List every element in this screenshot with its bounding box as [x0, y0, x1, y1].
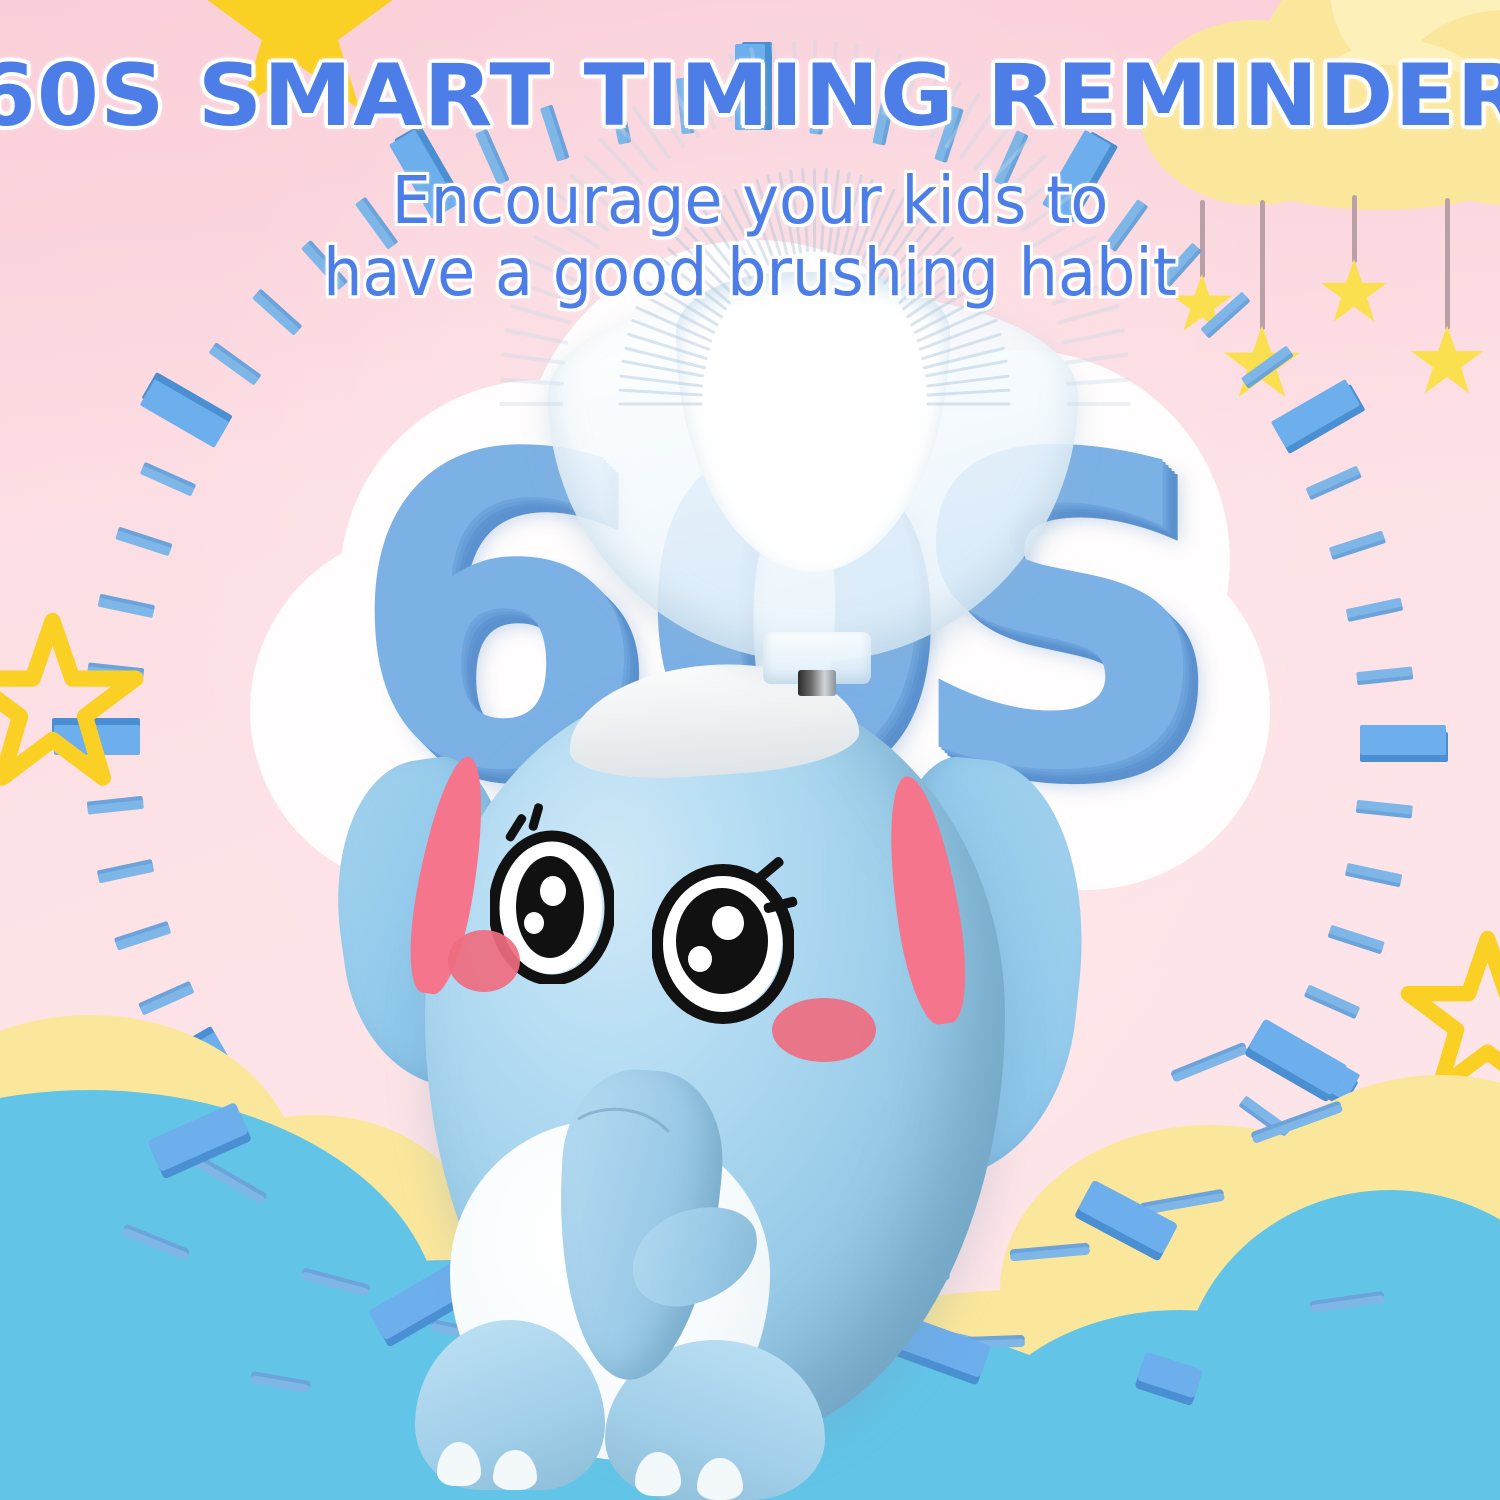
slab-mark — [1248, 1018, 1348, 1095]
bristle — [925, 374, 1009, 387]
bristle-outer — [1067, 402, 1131, 406]
dash-mark — [184, 1153, 266, 1205]
subtitle-line-2: have a good brushing habit — [45, 234, 1455, 311]
bristle — [927, 403, 1011, 406]
elephant-left-blush — [448, 930, 520, 992]
elephant-mascot — [330, 640, 1190, 1500]
dash-mark — [121, 1227, 189, 1261]
dash-mark — [1310, 1295, 1385, 1313]
dash-mark — [1251, 1104, 1343, 1144]
bristle — [620, 374, 704, 387]
bristle — [619, 388, 703, 396]
bristle — [619, 403, 703, 406]
dash-mark — [250, 1375, 310, 1393]
page-title: 60S SMART TIMING REMINDER — [0, 46, 1500, 146]
bristle — [624, 346, 706, 369]
u-shaped-brush-head — [548, 292, 1078, 692]
brush-connector — [798, 670, 836, 696]
bristle — [926, 388, 1010, 396]
bristle-outer — [499, 402, 563, 406]
subtitle-line-1: Encourage your kids to — [45, 162, 1455, 239]
elephant-right-eye-outline-icon — [652, 860, 794, 1024]
poster-canvas: 60 S — [0, 0, 1500, 1500]
bristle — [923, 346, 1005, 369]
elephant-right-blush — [772, 998, 876, 1062]
